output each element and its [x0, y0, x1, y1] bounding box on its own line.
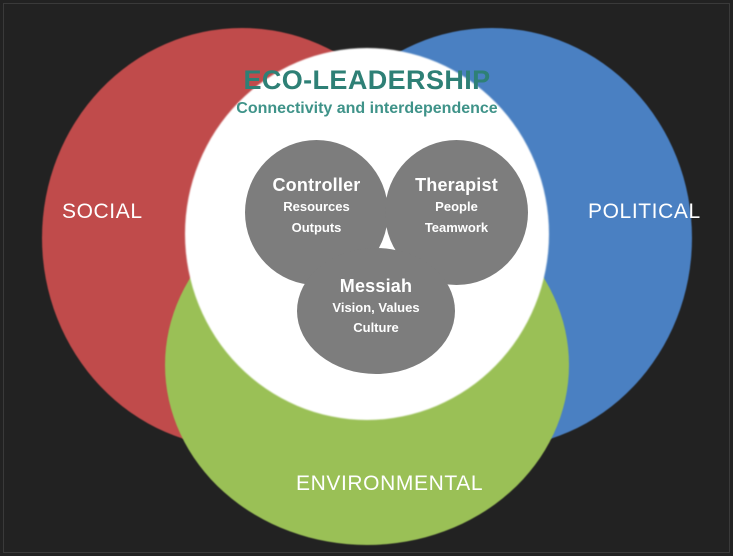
- region-label-environmental: ENVIRONMENTAL: [296, 472, 483, 496]
- node-messiah-line2: Culture: [332, 319, 419, 338]
- node-controller-text: Controller Resources Outputs: [272, 175, 360, 237]
- node-therapist-title: Therapist: [415, 175, 498, 196]
- node-controller-line2: Outputs: [272, 219, 360, 238]
- node-messiah-text: Messiah Vision, Values Culture: [332, 276, 419, 338]
- node-messiah-title: Messiah: [332, 276, 419, 297]
- node-therapist-line1: People: [415, 198, 498, 217]
- node-messiah-line1: Vision, Values: [332, 299, 419, 318]
- node-therapist-line2: Teamwork: [415, 219, 498, 238]
- node-controller-title: Controller: [272, 175, 360, 196]
- node-therapist-text: Therapist People Teamwork: [415, 175, 498, 237]
- node-controller-line1: Resources: [272, 198, 360, 217]
- eco-leadership-diagram: ECO-LEADERSHIP Connectivity and interdep…: [0, 0, 733, 556]
- region-label-social: SOCIAL: [62, 200, 143, 224]
- region-label-political: POLITICAL: [588, 200, 701, 224]
- node-messiah[interactable]: Messiah Vision, Values Culture: [297, 248, 455, 374]
